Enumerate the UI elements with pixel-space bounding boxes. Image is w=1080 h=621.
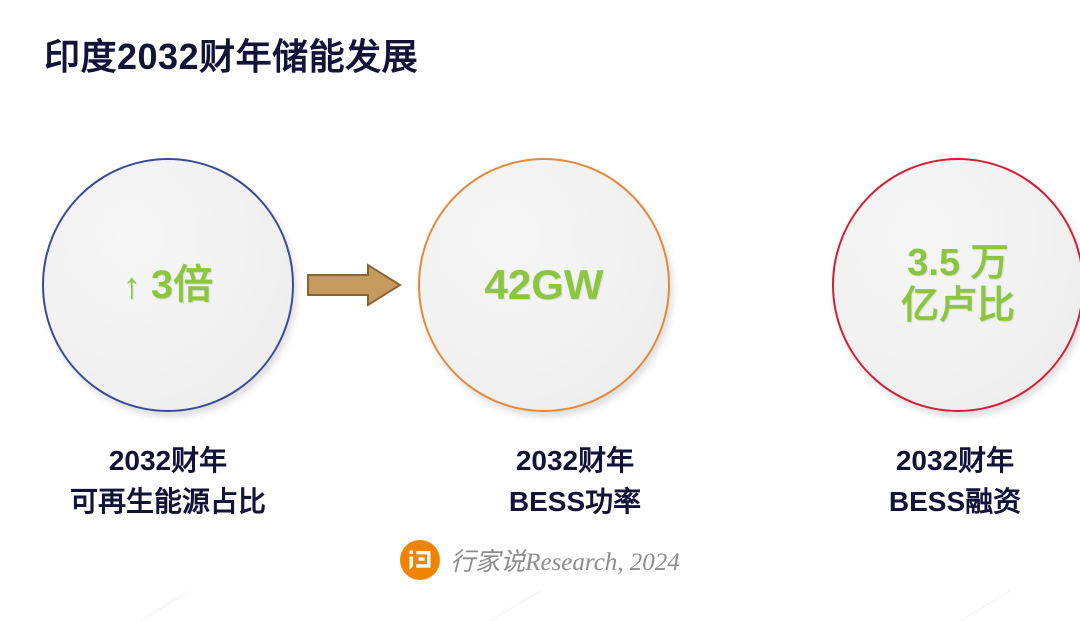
right-arrow-icon [306, 262, 402, 308]
metric-card-bess-power: 42GW [418, 158, 670, 412]
caption-line-2: BESS功率 [395, 481, 755, 522]
metric-circle-bess-investment: 3.5 万 亿卢比 [832, 158, 1080, 412]
metric-value-text: 3倍 [151, 263, 213, 307]
caption-line-1: 2032财年 [0, 440, 348, 481]
metric-circle-renewable-share: ↑3倍 [42, 158, 294, 412]
up-arrow-icon: ↑ [123, 265, 151, 306]
metric-value-bess-investment: 3.5 万 亿卢比 [901, 242, 1015, 327]
metric-value-renewable-share: ↑3倍 [123, 263, 213, 308]
metric-circle-bess-power: 42GW [418, 158, 670, 412]
metric-caption-bess-investment: 2032财年 BESS融资 [775, 440, 1080, 523]
metric-value-line-1: 3.5 万 [901, 242, 1015, 285]
metric-card-bess-investment: 3.5 万 亿卢比 [832, 158, 1080, 412]
page-title: 印度2032财年储能发展 [44, 28, 418, 80]
source-credit-text: 行家说Research, 2024 [450, 542, 680, 578]
hangjiashuo-logo-icon [400, 540, 440, 580]
metric-value-bess-power: 42GW [484, 261, 603, 308]
caption-line-1: 2032财年 [775, 440, 1080, 481]
source-credit: 行家说Research, 2024 [0, 540, 1080, 580]
metric-caption-renewable-share: 2032财年 可再生能源占比 [0, 440, 348, 523]
caption-line-1: 2032财年 [395, 440, 755, 481]
metric-caption-bess-power: 2032财年 BESS功率 [395, 440, 755, 523]
metric-card-renewable-share: ↑3倍 [42, 158, 294, 412]
metric-value-line-2: 亿卢比 [901, 285, 1015, 328]
caption-line-2: BESS融资 [775, 481, 1080, 522]
slide-canvas: 印度2032财年储能发展 ↑3倍 42GW 3.5 万 亿卢比 2032财年 可… [0, 0, 1080, 621]
caption-line-2: 可再生能源占比 [0, 481, 348, 522]
